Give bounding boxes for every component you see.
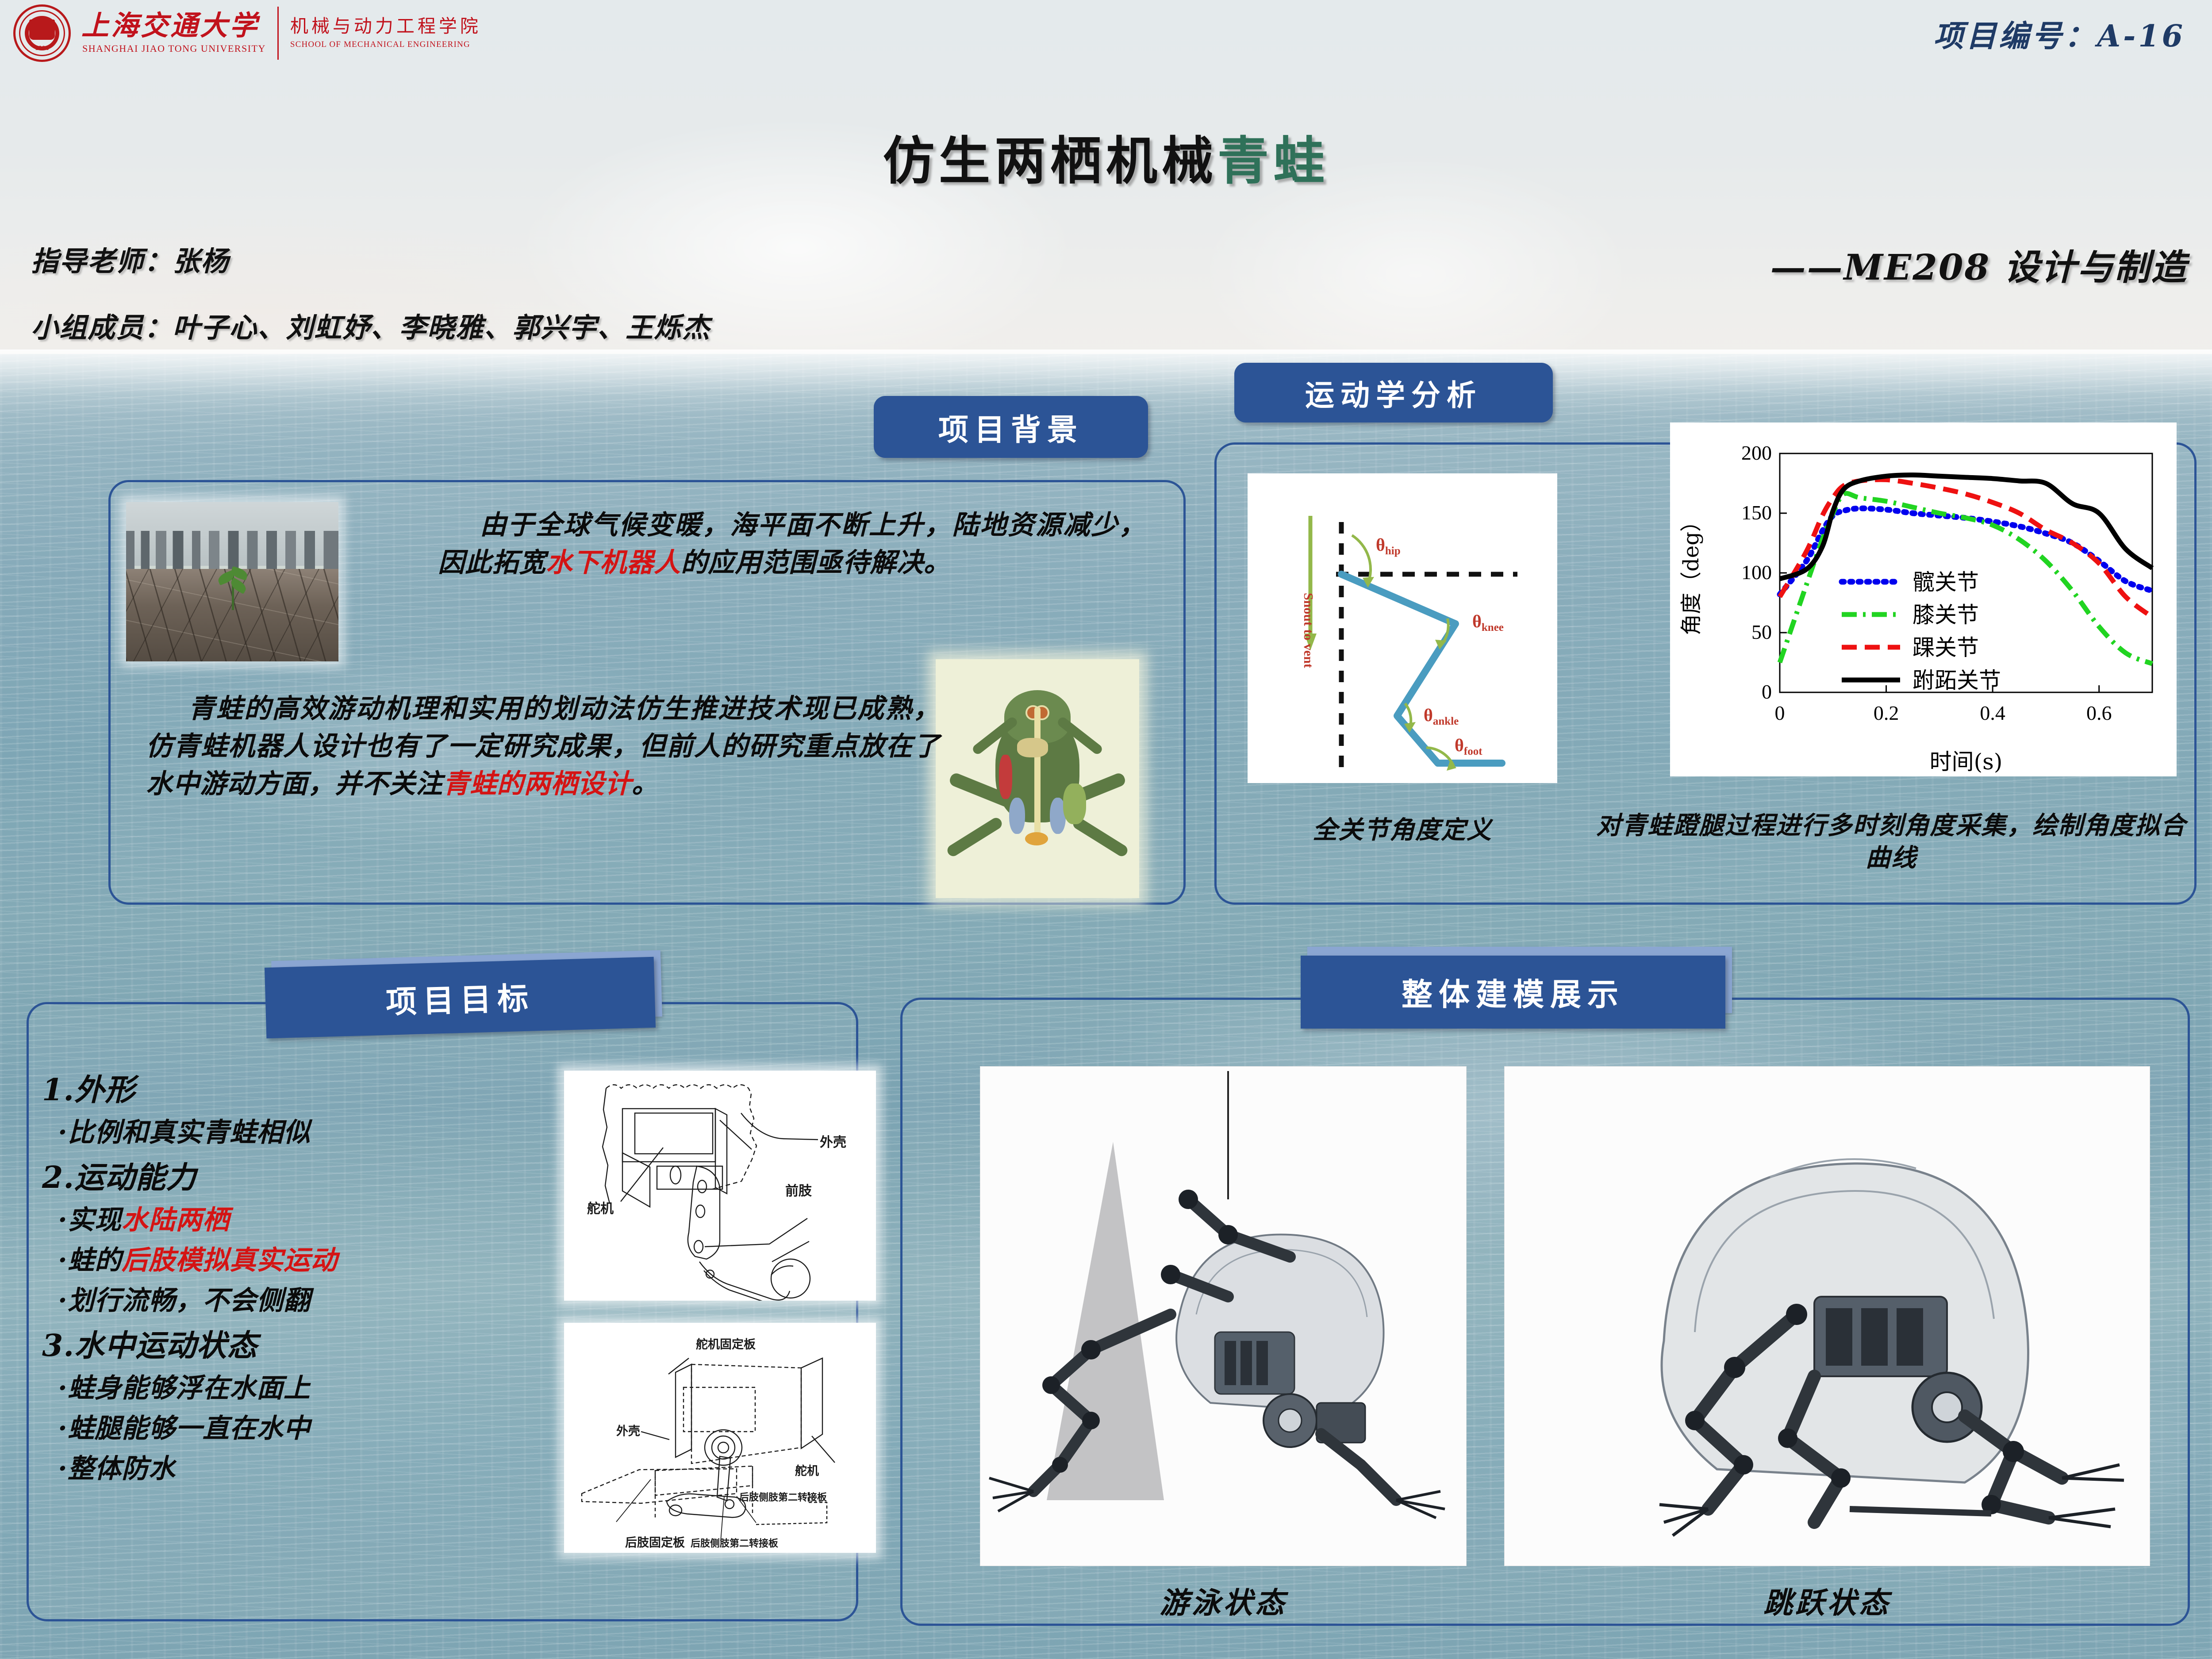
sketch2-label-servo: 舵机 — [795, 1464, 819, 1478]
goal-bullet-3-2: ·蛙腿能够一直在水中 — [58, 1407, 564, 1445]
label-theta-knee: θknee — [1472, 611, 1504, 634]
goal-bullet-3-3: ·整体防水 — [58, 1447, 564, 1486]
sketch1-svg: 外壳 前肢 舵机 — [564, 1071, 876, 1301]
svg-text:髋关节: 髋关节 — [1912, 569, 1979, 595]
sprout-icon — [219, 566, 246, 614]
school-name-cn: 机械与动力工程学院 — [290, 17, 481, 35]
svg-text:100: 100 — [1741, 561, 1772, 584]
seal-year: 1896 — [13, 45, 71, 52]
svg-text:踝关节: 踝关节 — [1912, 635, 1979, 661]
joint-angle-svg: Snout to vent θhip θknee θankle θfoot — [1248, 473, 1557, 783]
bg-p2-part-b: 。 — [632, 768, 659, 799]
school-name-en: SCHOOL OF MECHANICAL ENGINEERING — [290, 40, 481, 50]
label-theta-ankle: θankle — [1424, 705, 1459, 727]
sketch1-label-servo: 舵机 — [587, 1201, 614, 1217]
model-swimming-render — [980, 1066, 1467, 1566]
background-paragraph-2: 青蛙的高效游动机理和实用的划动法仿生推进技术现已成熟，仿青蛙机器人设计也有了一定… — [146, 690, 940, 803]
banner-project-background: 项目背景 — [874, 396, 1148, 458]
model-jumping-render — [1504, 1066, 2150, 1566]
members-line: 小组成员：叶子心、刘虹妤、李晓雅、郭兴宇、王烁杰 — [31, 305, 710, 345]
poster-title: 仿生两栖机械青蛙 — [0, 119, 2212, 194]
caption-angle-chart: 对青蛙蹬腿过程进行多时刻角度采集，绘制角度拟合曲线 — [1593, 810, 2190, 874]
logo-divider — [277, 7, 279, 60]
svg-text:0.2: 0.2 — [1874, 702, 1899, 724]
bg-p1-red: 水下机器人 — [546, 547, 681, 578]
label-theta-foot: θfoot — [1455, 735, 1482, 757]
label-theta-hip: θhip — [1376, 535, 1401, 557]
sketch2-svg: 舵机固定板 外壳 舵机 后肢固定板 后肢侧肢第二转接板 后肢侧肢第二转接板 — [564, 1323, 876, 1553]
goal-bullet-2-1: ·实现水陆两栖 — [58, 1198, 564, 1237]
drought-city-photo — [126, 502, 338, 661]
svg-text:角度（deg）: 角度（deg） — [1679, 511, 1704, 635]
svg-text:0.4: 0.4 — [1980, 702, 2005, 724]
goal-bullet-2-3: ·划行流畅，不会侧翻 — [58, 1279, 564, 1317]
poster-header: 1896 上海交通大学 SHANGHAI JIAO TONG UNIVERSIT… — [0, 0, 2212, 111]
sjtu-seal-icon: 1896 — [13, 4, 71, 62]
joint-angle-chart-svg: 05010015020000.20.40.6时间(s)角度（deg）髋关节膝关节… — [1670, 422, 2177, 776]
caption-swimming-state: 游泳状态 — [980, 1579, 1467, 1622]
goal-list: 1.外形 ·比例和真实青蛙相似 2.运动能力 ·实现水陆两栖 ·蛙的后肢模拟真实… — [42, 1062, 564, 1486]
goal-heading-1: 1.外形 — [42, 1065, 564, 1109]
title-text-black: 仿生两栖机械 — [883, 131, 1217, 191]
poster-subtitle: ——ME208 设计与制造 — [1770, 239, 2188, 290]
banner-project-goals: 项目目标 — [265, 957, 656, 1039]
joint-angle-diagram: Snout to vent θhip θknee θankle θfoot — [1248, 473, 1557, 783]
banner-kinematics-analysis: 运动学分析 — [1234, 363, 1553, 422]
goal-bullet-1-1: ·比例和真实青蛙相似 — [58, 1111, 564, 1149]
goal-bullet-2-2: ·蛙的后肢模拟真实运动 — [58, 1239, 564, 1277]
university-name-en: SHANGHAI JIAO TONG UNIVERSITY — [82, 43, 266, 54]
university-name-cn: 上海交通大学 — [81, 12, 266, 39]
svg-text:跗跖关节: 跗跖关节 — [1912, 668, 2001, 693]
sketch2-label-adapter-1: 后肢侧肢第二转接板 — [739, 1492, 827, 1503]
svg-text:200: 200 — [1741, 442, 1772, 464]
caption-jumping-state: 跳跃状态 — [1504, 1579, 2150, 1622]
svg-text:150: 150 — [1741, 501, 1772, 524]
svg-text:时间(s): 时间(s) — [1930, 749, 2003, 775]
label-snout-to-vent: Snout to vent — [1301, 593, 1316, 668]
mechanical-sketch-hindlimb: 舵机固定板 外壳 舵机 后肢固定板 后肢侧肢第二转接板 后肢侧肢第二转接板 — [564, 1323, 876, 1553]
bg-p1-part-b: 的应用范围亟待解决。 — [681, 547, 951, 578]
bg-p2-red: 青蛙的两栖设计 — [443, 768, 632, 799]
swim-render-svg — [980, 1067, 1467, 1566]
sketch1-label-shell: 外壳 — [820, 1135, 846, 1150]
advisor-line: 指导老师：张杨 — [31, 239, 229, 279]
sketch2-label-shell: 外壳 — [616, 1425, 640, 1438]
mechanical-sketch-forelimb: 外壳 前肢 舵机 — [564, 1071, 876, 1301]
sketch1-label-forelimb: 前肢 — [785, 1183, 812, 1199]
svg-text:0.6: 0.6 — [2086, 702, 2112, 724]
frog-anatomy-photo — [936, 659, 1139, 898]
goal-heading-3: 3.水中运动状态 — [42, 1321, 564, 1365]
sketch2-label-servo-plate: 舵机固定板 — [696, 1337, 756, 1352]
sketch2-label-hind-plate: 后肢固定板 — [625, 1536, 685, 1550]
sketch2-label-adapter-2: 后肢侧肢第二转接板 — [691, 1538, 779, 1549]
banner-model-showcase: 整体建模展示 — [1301, 956, 1725, 1029]
goal-heading-2: 2.运动能力 — [42, 1153, 564, 1197]
svg-text:0: 0 — [1762, 680, 1772, 703]
jump-render-svg — [1505, 1067, 2150, 1566]
svg-text:膝关节: 膝关节 — [1912, 602, 1979, 628]
caption-joint-diagram: 全关节角度定义 — [1234, 814, 1571, 846]
svg-text:0: 0 — [1775, 702, 1785, 724]
title-text-accent: 青蛙 — [1217, 131, 1329, 191]
joint-angle-chart: 05010015020000.20.40.6时间(s)角度（deg）髋关节膝关节… — [1670, 422, 2177, 776]
project-number: 项目编号：A-16 — [1933, 12, 2185, 55]
background-paragraph-1: 由于全球气候变暖，海平面不断上升，陆地资源减少，因此拓宽水下机器人的应用范围亟待… — [438, 507, 1146, 582]
university-logo: 1896 上海交通大学 SHANGHAI JIAO TONG UNIVERSIT… — [13, 4, 481, 62]
svg-text:50: 50 — [1751, 621, 1772, 643]
goal-bullet-3-1: ·蛙身能够浮在水面上 — [58, 1367, 564, 1405]
